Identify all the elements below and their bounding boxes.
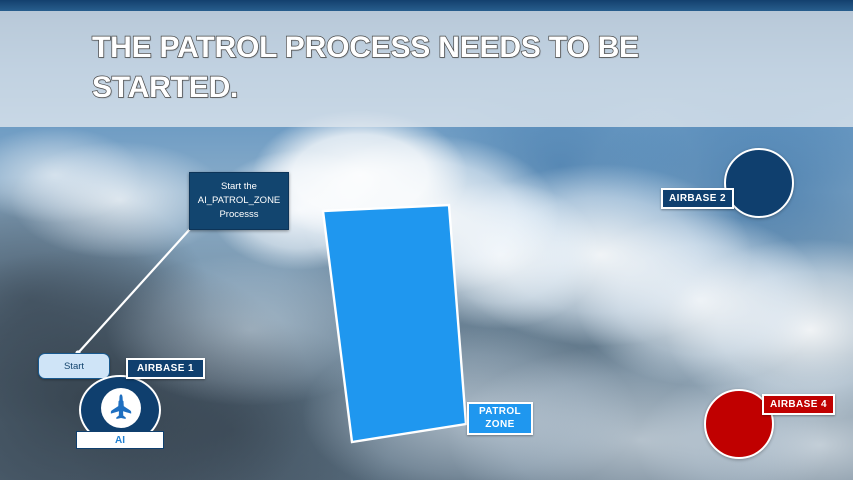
- ai-node[interactable]: AI: [79, 375, 161, 445]
- airbase-4-label[interactable]: AIRBASE 4: [762, 394, 835, 415]
- airbase-2-circle[interactable]: [724, 148, 794, 218]
- airbase-1-label[interactable]: AIRBASE 1: [126, 358, 205, 379]
- ai-node-label[interactable]: AI: [76, 431, 164, 449]
- airbase-2-label[interactable]: AIRBASE 2: [661, 188, 734, 209]
- patrol-zone-label[interactable]: PATROL ZONE: [467, 402, 533, 435]
- slide-canvas: THE PATROL PROCESS NEEDS TO BE STARTED. …: [0, 0, 853, 480]
- fighter-jet-icon: [101, 388, 141, 428]
